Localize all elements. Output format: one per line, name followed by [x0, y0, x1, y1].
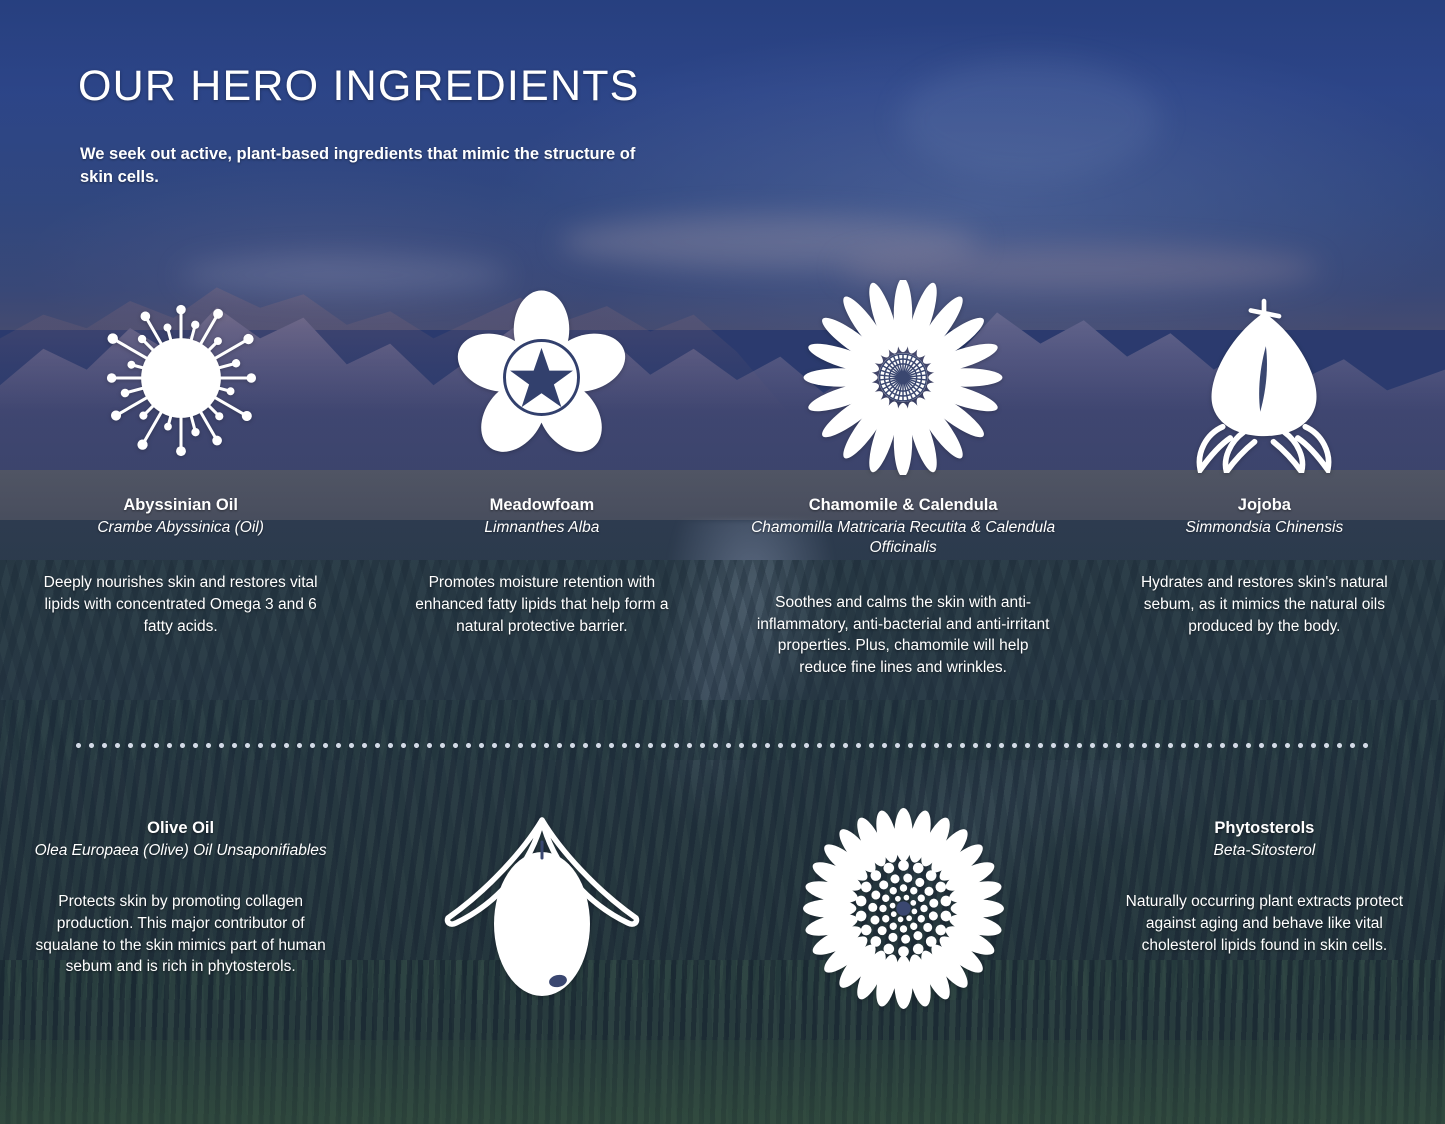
- page-subtitle: We seek out active, plant-based ingredie…: [80, 143, 660, 190]
- ingredient-card-olive-oil: Olive Oil Olea Europaea (Olive) Oil Unsa…: [0, 800, 361, 978]
- ingredient-latin: Simmondsia Chinensis: [1098, 518, 1431, 538]
- ingredient-icon-cell-olive: [361, 800, 722, 1030]
- ingredients-row-bottom: Olive Oil Olea Europaea (Olive) Oil Unsa…: [0, 800, 1445, 1030]
- ingredient-name: Jojoba: [1098, 495, 1431, 516]
- ingredient-name: Olive Oil: [14, 818, 347, 839]
- ingredient-description: Naturally occurring plant extracts prote…: [1098, 891, 1431, 956]
- ingredient-names: Phytosterols Beta-Sitosterol: [1098, 800, 1431, 861]
- ingredient-names: Meadowfoam Limnanthes Alba: [375, 485, 708, 538]
- ingredient-name: Chamomile & Calendula: [737, 495, 1070, 516]
- ingredient-card-jojoba: Jojoba Simmondsia Chinensis Hydrates and…: [1084, 270, 1445, 679]
- page-title: OUR HERO INGREDIENTS: [78, 62, 640, 111]
- ingredient-card-meadowfoam: Meadowfoam Limnanthes Alba Promotes mois…: [361, 270, 722, 679]
- ingredient-card-chamomile-calendula: Chamomile & Calendula Chamomilla Matrica…: [723, 270, 1084, 679]
- sunflower-seedhead-icon: [737, 800, 1070, 1030]
- ingredient-description: Deeply nourishes skin and restores vital…: [14, 572, 347, 637]
- chamomile-daisy-icon: [737, 270, 1070, 485]
- ingredient-latin: Olea Europaea (Olive) Oil Unsaponifiable…: [14, 841, 347, 861]
- ingredient-card-phytosterols: Phytosterols Beta-Sitosterol Naturally o…: [1084, 800, 1445, 956]
- ingredient-name: Abyssinian Oil: [14, 495, 347, 516]
- ingredient-latin: Crambe Abyssinica (Oil): [14, 518, 347, 538]
- ingredient-description: Soothes and calms the skin with anti-inf…: [737, 592, 1070, 679]
- hero-ingredients-poster: OUR HERO INGREDIENTS We seek out active,…: [0, 0, 1445, 1124]
- olive-drupe-icon: [375, 800, 708, 1030]
- ingredient-names: Abyssinian Oil Crambe Abyssinica (Oil): [14, 485, 347, 538]
- ingredient-name: Meadowfoam: [375, 495, 708, 516]
- ingredients-row-top: Abyssinian Oil Crambe Abyssinica (Oil) D…: [0, 270, 1445, 679]
- ingredient-latin: Limnanthes Alba: [375, 518, 708, 538]
- ingredient-names: Jojoba Simmondsia Chinensis: [1098, 485, 1431, 538]
- abyssinian-starburst-icon: [14, 270, 347, 485]
- ingredient-names: Olive Oil Olea Europaea (Olive) Oil Unsa…: [14, 800, 347, 861]
- dotted-divider: [72, 742, 1372, 749]
- ingredient-description: Hydrates and restores skin's natural seb…: [1098, 572, 1431, 637]
- ingredient-card-abyssinian-oil: Abyssinian Oil Crambe Abyssinica (Oil) D…: [0, 270, 361, 679]
- ingredient-icon-cell-sunflower: [723, 800, 1084, 1030]
- ingredient-names: Chamomile & Calendula Chamomilla Matrica…: [737, 485, 1070, 558]
- ingredient-latin: Chamomilla Matricaria Recutita & Calendu…: [737, 518, 1070, 558]
- jojoba-seed-icon: [1098, 270, 1431, 485]
- ingredient-description: Promotes moisture retention with enhance…: [375, 572, 708, 637]
- ingredient-latin: Beta-Sitosterol: [1098, 841, 1431, 861]
- ingredient-description: Protects skin by promoting collagen prod…: [14, 891, 347, 978]
- meadowfoam-flower-icon: [375, 270, 708, 485]
- ingredient-name: Phytosterols: [1098, 818, 1431, 839]
